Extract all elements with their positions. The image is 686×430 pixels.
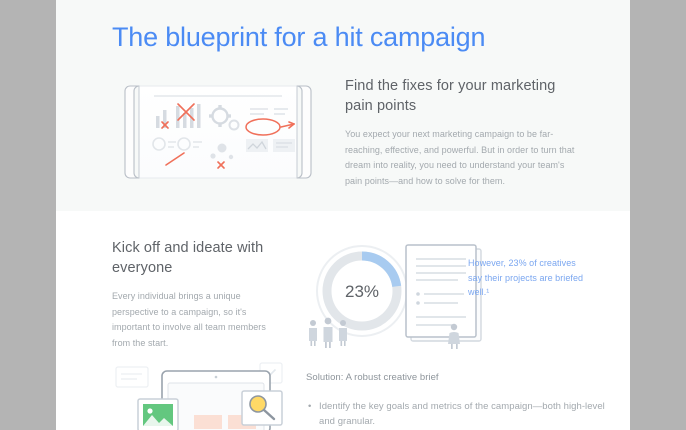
document-page: The blueprint for a hit campaign <box>56 0 630 430</box>
ideate-body-text: Every individual brings a unique perspec… <box>112 289 272 351</box>
solution-title: Solution: A robust creative brief <box>306 371 611 385</box>
screenshot-root: The blueprint for a hit campaign <box>0 0 686 430</box>
hero-heading: Find the fixes for your marketing pain p… <box>345 76 577 116</box>
donut-center-label: 23% <box>345 282 379 301</box>
list-item: Identify the key goals and metrics of th… <box>306 399 611 429</box>
ideate-copy: Kick off and ideate with everyone Every … <box>112 238 272 351</box>
hero-body-text: You expect your next marketing campaign … <box>345 127 577 189</box>
ideate-heading: Kick off and ideate with everyone <box>112 238 272 278</box>
tablet-and-media-illustration <box>112 363 290 430</box>
solution-block: Solution: A robust creative brief Identi… <box>306 371 611 429</box>
ideate-section: Kick off and ideate with everyone Every … <box>56 211 630 430</box>
solution-bullet-list: Identify the key goals and metrics of th… <box>306 399 611 429</box>
page-title: The blueprint for a hit campaign <box>112 22 630 53</box>
blueprint-scroll-illustration <box>122 82 314 182</box>
hero-section: The blueprint for a hit campaign <box>56 0 630 211</box>
hero-copy: Find the fixes for your marketing pain p… <box>345 76 577 189</box>
people-figures <box>309 318 347 348</box>
statistic-callout: However, 23% of creatives say their proj… <box>468 256 588 300</box>
